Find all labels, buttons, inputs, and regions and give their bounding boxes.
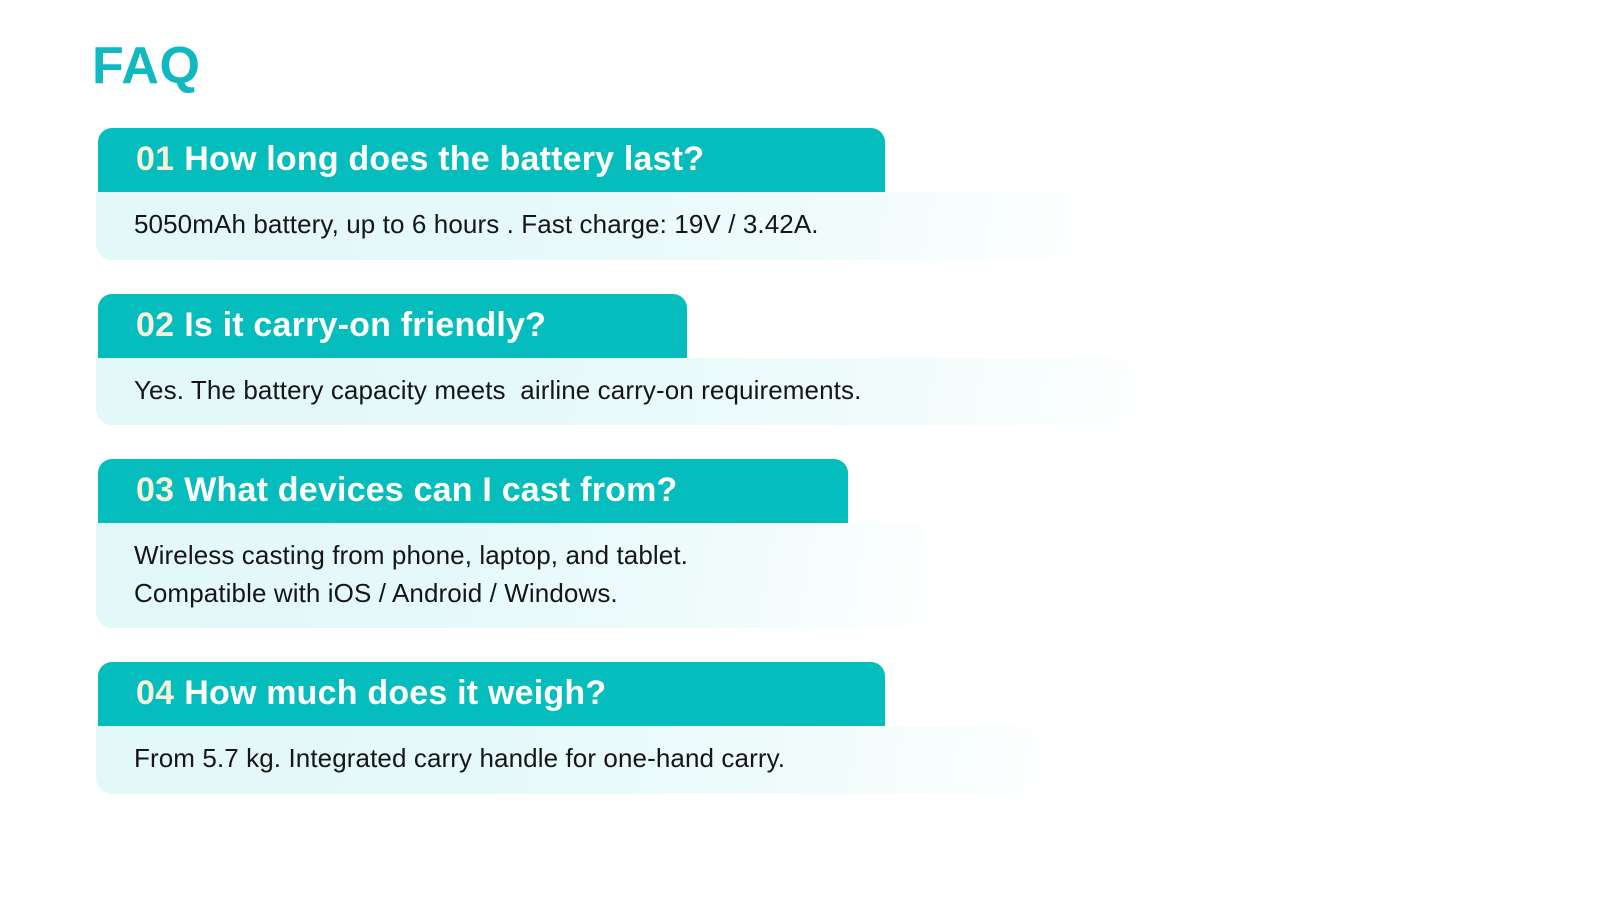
faq-item: 01How long does the battery last? 5050mA… [0, 128, 1600, 260]
faq-question-text: How long does the battery last? [184, 140, 704, 178]
faq-answer-card: 5050mAh battery, up to 6 hours . Fast ch… [96, 192, 1070, 259]
faq-item: 03What devices can I cast from? Wireless… [0, 459, 1600, 628]
faq-question-number: 01 [136, 140, 174, 178]
faq-answer-card: Wireless casting from phone, laptop, and… [96, 523, 924, 628]
faq-question-line: 03What devices can I cast from? [136, 471, 678, 509]
faq-question-line: 04How much does it weigh? [136, 674, 606, 712]
faq-question-number: 04 [136, 674, 174, 712]
faq-question-number: 02 [136, 306, 174, 344]
faq-answer-card: From 5.7 kg. Integrated carry handle for… [96, 726, 1034, 793]
faq-item: 02Is it carry-on friendly? Yes. The batt… [0, 294, 1600, 426]
faq-page: FAQ 01How long does the battery last? 50… [0, 0, 1600, 900]
faq-question-bar[interactable]: 01How long does the battery last? [98, 128, 885, 192]
faq-answer-line: Compatible with iOS / Android / Windows. [134, 575, 882, 612]
faq-answer-card: Yes. The battery capacity meets airline … [96, 358, 1130, 425]
faq-answer-line: Wireless casting from phone, laptop, and… [134, 537, 882, 574]
faq-question-line: 02Is it carry-on friendly? [136, 306, 546, 344]
faq-answer-line: Yes. The battery capacity meets airline … [134, 372, 1088, 409]
faq-question-text: What devices can I cast from? [184, 471, 677, 509]
faq-answer-line: 5050mAh battery, up to 6 hours . Fast ch… [134, 206, 1028, 243]
faq-question-bar[interactable]: 02Is it carry-on friendly? [98, 294, 687, 358]
page-title: FAQ [92, 40, 200, 92]
faq-question-line: 01How long does the battery last? [136, 140, 704, 178]
faq-list: 01How long does the battery last? 5050mA… [0, 128, 1600, 794]
faq-question-bar[interactable]: 04How much does it weigh? [98, 662, 885, 726]
faq-question-number: 03 [136, 471, 174, 509]
faq-question-text: Is it carry-on friendly? [184, 306, 546, 344]
faq-question-text: How much does it weigh? [184, 674, 606, 712]
faq-item: 04How much does it weigh? From 5.7 kg. I… [0, 662, 1600, 794]
faq-answer-line: From 5.7 kg. Integrated carry handle for… [134, 740, 992, 777]
faq-question-bar[interactable]: 03What devices can I cast from? [98, 459, 848, 523]
